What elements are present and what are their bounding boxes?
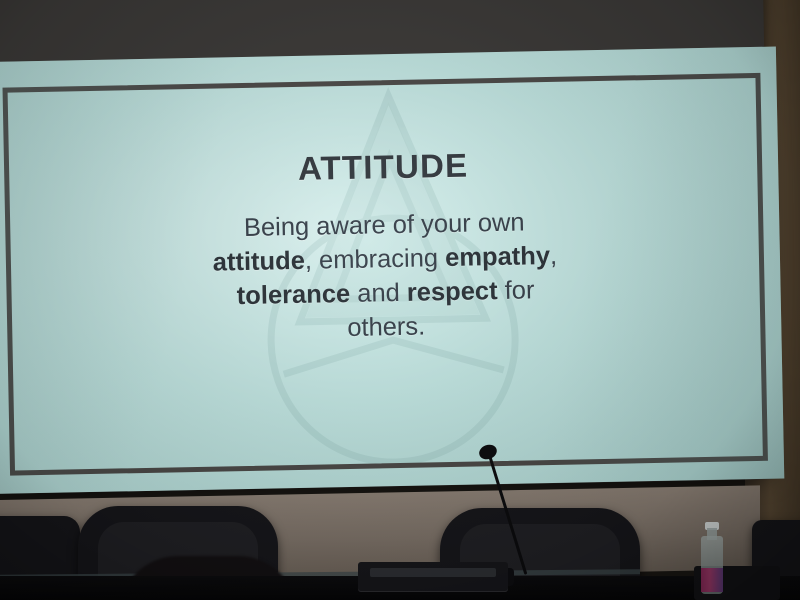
slide-body-run: and <box>350 279 407 308</box>
slide-body-run: , <box>550 242 558 270</box>
slide-body-emphasis: tolerance <box>237 280 351 310</box>
slide-content: ATTITUDE Being aware of your ownattitude… <box>0 143 782 353</box>
bottle-label <box>701 568 723 592</box>
slide-body-emphasis: empathy <box>445 242 550 272</box>
slide-body-emphasis: attitude <box>213 247 306 277</box>
slide-body-run: Being aware of your own <box>244 209 525 242</box>
water-bottle <box>701 522 723 594</box>
slide-body-run: others. <box>347 312 426 342</box>
conference-room-photo: ATTITUDE Being aware of your ownattitude… <box>0 0 800 600</box>
slide-body-emphasis: respect <box>407 277 498 307</box>
slide-body: Being aware of your ownattitude, embraci… <box>35 202 736 351</box>
slide-body-run: , embracing <box>305 244 446 275</box>
projected-slide: ATTITUDE Being aware of your ownattitude… <box>0 47 784 494</box>
nameplate <box>358 562 508 592</box>
nameplate-slot <box>370 568 496 577</box>
slide-body-run: for <box>497 276 534 305</box>
